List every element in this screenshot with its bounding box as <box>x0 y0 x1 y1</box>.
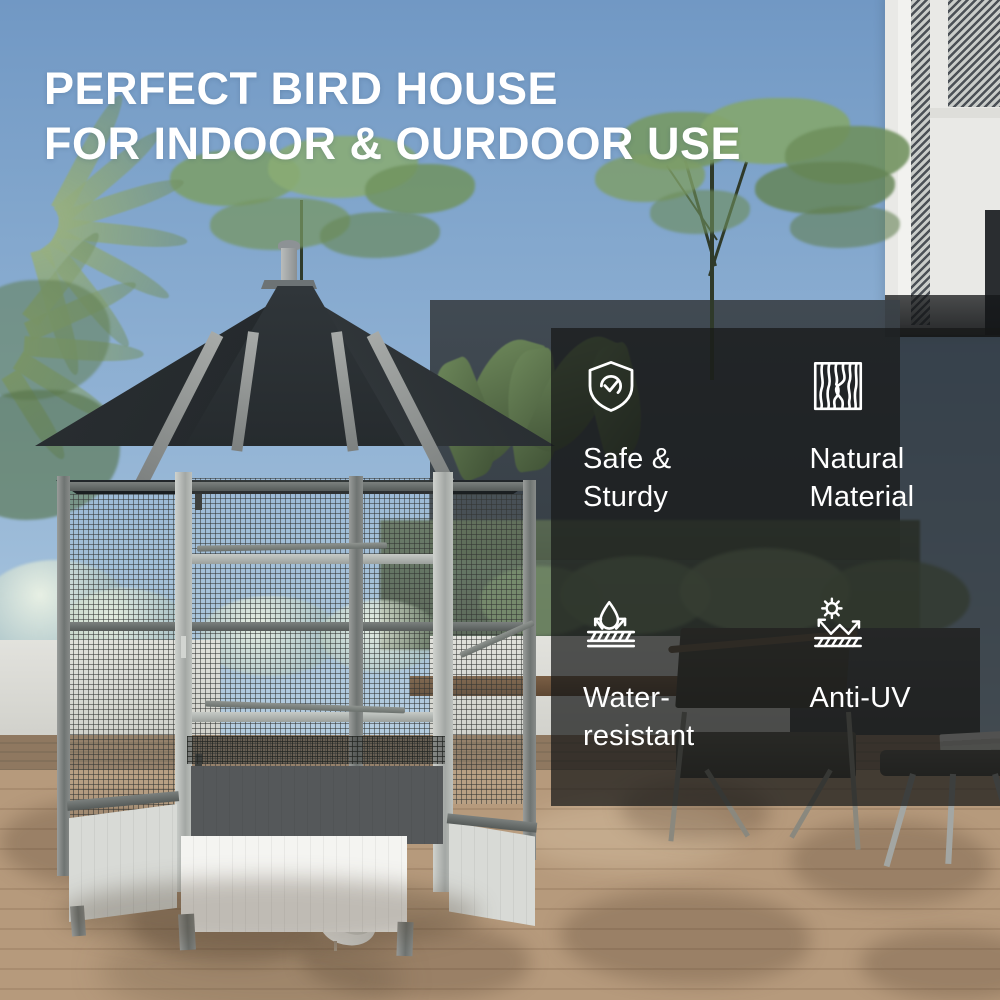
base-panel-front-dark <box>191 766 443 844</box>
building-louver-panel-tall <box>911 0 930 325</box>
mesh-panel-left <box>63 494 181 826</box>
feature-item-anti-uv: Anti-UV <box>776 567 1000 806</box>
building-eave <box>930 108 1000 118</box>
water-droplet-repel-icon <box>583 597 639 653</box>
cage-rail-upper <box>187 554 447 564</box>
cage-floor-mesh <box>187 736 445 764</box>
door-latch[interactable] <box>181 636 186 658</box>
feature-label-safe-sturdy: Safe & Sturdy <box>583 440 762 517</box>
aviary-ground-shadow <box>60 878 480 948</box>
door-hinge-upper <box>195 494 202 510</box>
feature-item-natural-material: Natural Material <box>776 328 1000 567</box>
feature-item-water-resistant: Water- resistant <box>551 567 776 806</box>
bird-aviary-product <box>35 240 555 920</box>
cage-post-far-left <box>57 476 70 876</box>
feature-item-safe-sturdy: Safe & Sturdy <box>551 328 776 567</box>
wood-grain-icon <box>810 358 866 414</box>
feature-overlay-panel: Safe & Sturdy <box>551 328 1000 806</box>
cage-post-far-right <box>523 480 536 860</box>
cage-rail-middle <box>63 622 535 631</box>
feature-label-anti-uv: Anti-UV <box>810 679 987 717</box>
cage-rail-lower <box>187 712 447 722</box>
product-lifestyle-image: PERFECT BIRD HOUSE FOR INDOOR & OURDOOR … <box>0 0 1000 1000</box>
feature-label-water-resistant: Water- resistant <box>583 679 762 756</box>
feature-grid: Safe & Sturdy <box>551 328 1000 806</box>
aviary-cage-body <box>57 436 537 876</box>
roof-finial-post <box>281 248 297 282</box>
sun-uv-repel-icon <box>810 597 866 653</box>
headline-line-1: PERFECT BIRD HOUSE <box>44 62 741 117</box>
cage-post-left <box>175 472 192 892</box>
hexagonal-roof <box>35 286 555 446</box>
feature-label-natural-material: Natural Material <box>810 440 987 517</box>
headline-line-2: FOR INDOOR & OURDOOR USE <box>44 117 741 172</box>
building-louver-panel-upper <box>948 0 1000 107</box>
cage-rail-top <box>63 482 535 491</box>
shield-check-icon <box>583 358 639 414</box>
headline-text: PERFECT BIRD HOUSE FOR INDOOR & OURDOOR … <box>44 62 741 172</box>
